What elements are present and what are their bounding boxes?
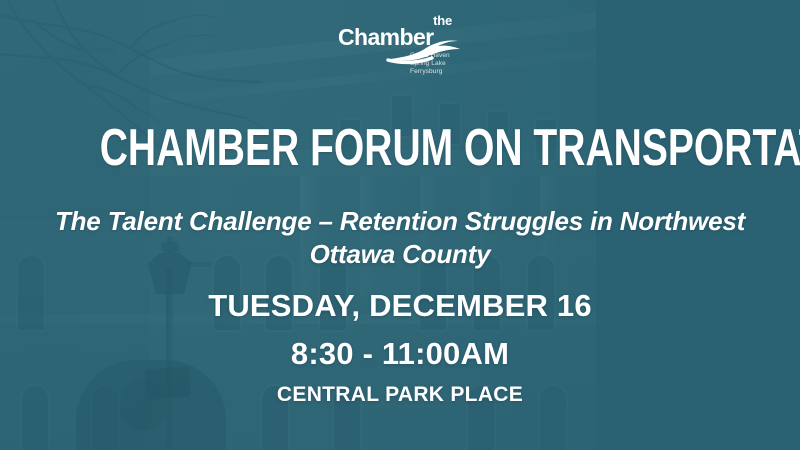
event-promo-poster: the Chamber Grand Haven Spring Lake Ferr… xyxy=(0,0,800,450)
logo-towns-text: Grand Haven Spring Lake Ferrysburg xyxy=(410,52,450,76)
event-headline: CHAMBER FORUM ON TRANSPORTATION xyxy=(100,122,701,174)
logo-town-line: Ferrysburg xyxy=(410,68,442,75)
logo-town-line: Spring Lake xyxy=(410,60,446,67)
event-date: TUESDAY, DECEMBER 16 xyxy=(0,290,800,321)
chamber-logo: the Chamber Grand Haven Spring Lake Ferr… xyxy=(0,14,800,84)
event-venue: CENTRAL PARK PLACE xyxy=(0,384,800,405)
event-time: 8:30 - 11:00AM xyxy=(0,338,800,369)
logo-town-line: Grand Haven xyxy=(410,52,450,59)
logo-word-the: the xyxy=(433,14,452,27)
event-subtitle: The Talent Challenge – Retention Struggl… xyxy=(40,205,760,272)
